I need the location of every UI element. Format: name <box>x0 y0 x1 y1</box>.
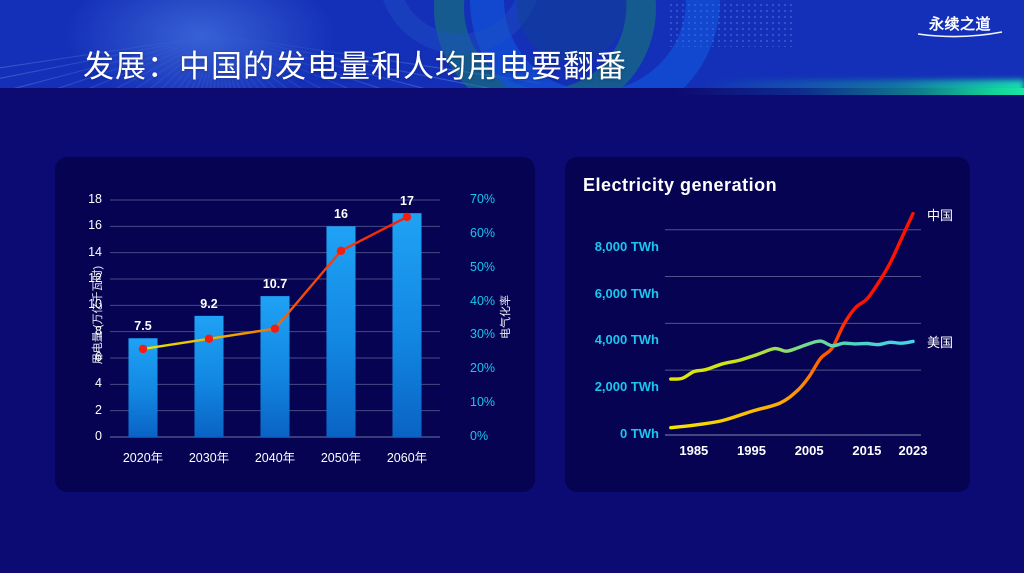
y-axis-tick: 2,000 TWh <box>569 379 659 394</box>
series-label-usa: 美国 <box>927 332 953 351</box>
y-axis-tick-right: 60% <box>470 226 516 240</box>
y-axis-tick-left: 4 <box>58 376 102 390</box>
x-axis-tick: 2040年 <box>239 447 311 466</box>
y-axis-tick-right: 0% <box>470 429 516 443</box>
y-axis-tick-right: 10% <box>470 395 516 409</box>
y-axis-tick: 4,000 TWh <box>569 332 659 347</box>
y-axis-tick-left: 14 <box>58 245 102 259</box>
bar-value-label: 17 <box>377 194 437 208</box>
y-axis-tick: 0 TWh <box>569 426 659 441</box>
x-axis-tick: 1995 <box>722 443 782 458</box>
x-axis-tick: 2060年 <box>371 447 443 466</box>
generation-chart-plot <box>565 157 970 492</box>
bar-value-label: 10.7 <box>245 277 305 291</box>
brand-logo: 永续之道 <box>914 8 1006 40</box>
y-axis-tick-left: 6 <box>58 350 102 364</box>
x-axis-tick: 2005 <box>779 443 839 458</box>
y-axis-tick: 6,000 TWh <box>569 286 659 301</box>
y-axis-tick-left: 12 <box>58 271 102 285</box>
y-axis-tick-left: 18 <box>58 192 102 206</box>
header-accent-bar <box>0 88 1024 95</box>
series-label-china: 中国 <box>927 205 953 224</box>
y-axis-tick-left: 8 <box>58 324 102 338</box>
slide: 发展：中国的发电量和人均用电要翻番 永续之道 用电量 (万亿千瓦时) 电气化率 <box>0 0 1024 573</box>
chart-panel-demand: 用电量 (万亿千瓦时) 电气化率 02468101 <box>55 157 535 492</box>
y-axis-tick-right: 70% <box>470 192 516 206</box>
bar-value-label: 9.2 <box>179 297 239 311</box>
y-axis-tick-right: 40% <box>470 294 516 308</box>
x-axis-tick: 2023 <box>883 443 943 458</box>
chart-panel-generation: Electricity generation <box>565 157 970 492</box>
y-axis-tick: 8,000 TWh <box>569 239 659 254</box>
page-title: 发展：中国的发电量和人均用电要翻番 <box>83 41 627 86</box>
y-axis-tick-left: 2 <box>58 403 102 417</box>
y-axis-tick-left: 0 <box>58 429 102 443</box>
x-axis-tick: 2020年 <box>107 447 179 466</box>
bar-value-label: 7.5 <box>113 319 173 333</box>
y-axis-tick-right: 20% <box>470 361 516 375</box>
bar-value-label: 16 <box>311 207 371 221</box>
y-axis-tick-left: 10 <box>58 297 102 311</box>
svg-text:永续之道: 永续之道 <box>928 15 991 33</box>
y-axis-tick-right: 30% <box>470 327 516 341</box>
slide-header: 发展：中国的发电量和人均用电要翻番 永续之道 <box>0 0 1024 95</box>
y-axis-tick-left: 16 <box>58 218 102 232</box>
x-axis-tick: 2030年 <box>173 447 245 466</box>
dot-grid-decoration <box>668 2 796 47</box>
y-axis-tick-right: 50% <box>470 260 516 274</box>
x-axis-tick: 1985 <box>664 443 724 458</box>
x-axis-tick: 2050年 <box>305 447 377 466</box>
